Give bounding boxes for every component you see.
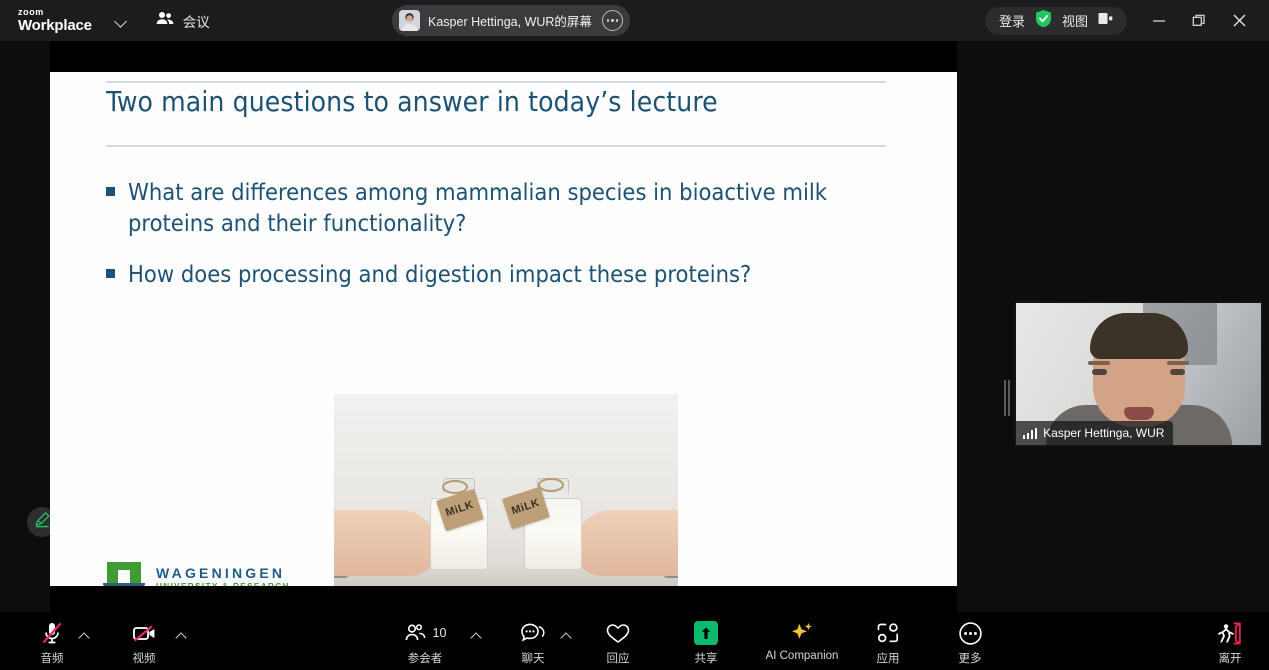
zoom-workplace-logo: zoom Workplace: [18, 8, 92, 33]
title-rule-bottom: [106, 145, 886, 147]
toolbar-more-button[interactable]: 更多: [938, 620, 1002, 666]
maximize-restore-icon[interactable]: [1179, 0, 1219, 41]
video-person-mouth: [1124, 407, 1154, 420]
list-item: How does processing and digestion impact…: [106, 259, 906, 290]
logo-name: WAGENINGEN: [156, 566, 290, 581]
share-indicator-text: Kasper Hettinga, WUR的屏幕: [428, 11, 594, 30]
heart-reaction-icon: [605, 620, 631, 646]
share-screen-icon: [694, 620, 718, 646]
toolbar-more-label: 更多: [959, 650, 982, 666]
participant-video-tile[interactable]: Kasper Hettinga, WUR: [1014, 301, 1263, 447]
apps-icon: [875, 620, 901, 646]
camera-stopped-icon: [130, 620, 158, 646]
bullet-text: What are differences among mammalian spe…: [128, 177, 906, 239]
chat-bubble-icon: [520, 620, 546, 646]
toolbar-reactions-button[interactable]: 回应: [586, 620, 650, 666]
toolbar-leave-button[interactable]: 离开: [1198, 620, 1262, 666]
participants-count: 10: [433, 626, 447, 640]
title-rule-top: [106, 81, 886, 83]
window-controls-cluster: 登录 视图: [985, 0, 1259, 41]
toolbar-ai-companion-label: AI Companion: [766, 650, 839, 662]
tag-label: MiLK: [439, 497, 481, 521]
video-person-eye-left: [1092, 369, 1107, 375]
logo-zoom-text: zoom: [18, 8, 92, 17]
toolbar-chat-label: 聊天: [522, 650, 545, 666]
participant-name: Kasper Hettinga, WUR: [1043, 426, 1164, 440]
toolbar-apps-label: 应用: [877, 650, 900, 666]
toolbar-chat-button[interactable]: 聊天: [501, 620, 565, 666]
tag-label: MiLK: [505, 495, 547, 519]
toolbar-reactions-label: 回应: [607, 650, 630, 666]
more-options-icon[interactable]: [602, 10, 623, 31]
slide-bullet-list: What are differences among mammalian spe…: [106, 177, 906, 310]
bullet-text: How does processing and digestion impact…: [128, 259, 751, 290]
toolbar-share-button[interactable]: 共享: [674, 620, 738, 666]
close-icon[interactable]: [1219, 0, 1259, 41]
slide-title: Two main questions to answer in today’s …: [106, 85, 886, 118]
wageningen-mark-icon: [103, 562, 145, 586]
zoom-meeting-window: zoom Workplace 会议: [0, 0, 1269, 670]
people-group-icon: [156, 11, 174, 30]
toolbar-share-label: 共享: [695, 650, 718, 666]
bullet-square-icon: [106, 269, 115, 278]
toolbar-ai-companion-button[interactable]: AI Companion: [758, 620, 846, 662]
video-thumbnail-panel: Kasper Hettinga, WUR: [957, 82, 1269, 653]
ai-sparkle-icon: [789, 620, 815, 646]
more-ellipsis-icon: [958, 620, 983, 646]
list-item: What are differences among mammalian spe…: [106, 177, 906, 239]
photo-hand-left: [334, 510, 438, 576]
shared-screen-frame[interactable]: Two main questions to answer in today’s …: [50, 41, 957, 612]
toolbar-apps-button[interactable]: 应用: [856, 620, 920, 666]
chat-chevron-up-icon[interactable]: [560, 631, 572, 641]
bullet-square-icon: [106, 187, 115, 196]
logo-workplace-text: Workplace: [18, 18, 92, 33]
participants-icon: 10: [404, 620, 447, 646]
layout-view-icon[interactable]: [1098, 12, 1113, 30]
logo-blue-wave: [103, 583, 145, 586]
view-button[interactable]: 视图: [1062, 11, 1088, 30]
meetings-label: 会议: [183, 11, 210, 31]
presenter-avatar: [399, 10, 420, 31]
video-name-label: Kasper Hettinga, WUR: [1016, 421, 1173, 445]
microphone-muted-icon: [38, 620, 66, 646]
video-person-brow-left: [1088, 361, 1110, 365]
video-options-chevron-up-icon[interactable]: [175, 631, 187, 641]
presentation-slide: Two main questions to answer in today’s …: [50, 72, 957, 586]
bottle-twine: [538, 478, 564, 492]
login-view-group: 登录 视图: [985, 7, 1127, 35]
audio-options-chevron-up-icon[interactable]: [78, 631, 90, 641]
toolbar-video-label: 视频: [133, 650, 156, 666]
milk-bottles-photo: MiLK MiLK: [334, 394, 678, 586]
meeting-toolbar: 音频 视频 10: [0, 612, 1269, 670]
pencil-annotate-icon: [34, 511, 51, 533]
screen-share-indicator[interactable]: Kasper Hettinga, WUR的屏幕: [392, 5, 630, 36]
toolbar-leave-label: 离开: [1219, 650, 1242, 666]
signal-bars-icon: [1023, 428, 1037, 439]
toolbar-participants-label: 参会者: [408, 650, 443, 666]
green-shield-check-icon: [1035, 9, 1052, 33]
chevron-down-icon[interactable]: [114, 14, 128, 28]
photo-hand-right: [574, 510, 678, 576]
toolbar-video-button[interactable]: 视频: [112, 620, 176, 666]
wageningen-wordmark: WAGENINGEN UNIVERSITY & RESEARCH: [156, 566, 290, 586]
video-person-hair: [1090, 313, 1188, 359]
login-button[interactable]: 登录: [999, 11, 1025, 30]
toolbar-audio-label: 音频: [41, 650, 64, 666]
participants-chevron-up-icon[interactable]: [470, 631, 482, 641]
panel-drag-handle-icon[interactable]: [1004, 380, 1010, 416]
title-bar: zoom Workplace 会议: [0, 0, 1269, 41]
leave-meeting-icon: [1216, 620, 1244, 646]
toolbar-audio-button[interactable]: 音频: [20, 620, 84, 666]
meetings-nav-item[interactable]: 会议: [156, 11, 210, 31]
minimize-icon[interactable]: [1139, 0, 1179, 41]
meeting-stage: Two main questions to answer in today’s …: [0, 41, 1269, 612]
video-person-eye-right: [1170, 369, 1185, 375]
video-person-brow-right: [1167, 361, 1189, 365]
wageningen-logo: WAGENINGEN UNIVERSITY & RESEARCH: [103, 562, 290, 586]
logo-subtitle: UNIVERSITY & RESEARCH: [156, 583, 290, 586]
toolbar-participants-button[interactable]: 10 参会者: [393, 620, 457, 666]
